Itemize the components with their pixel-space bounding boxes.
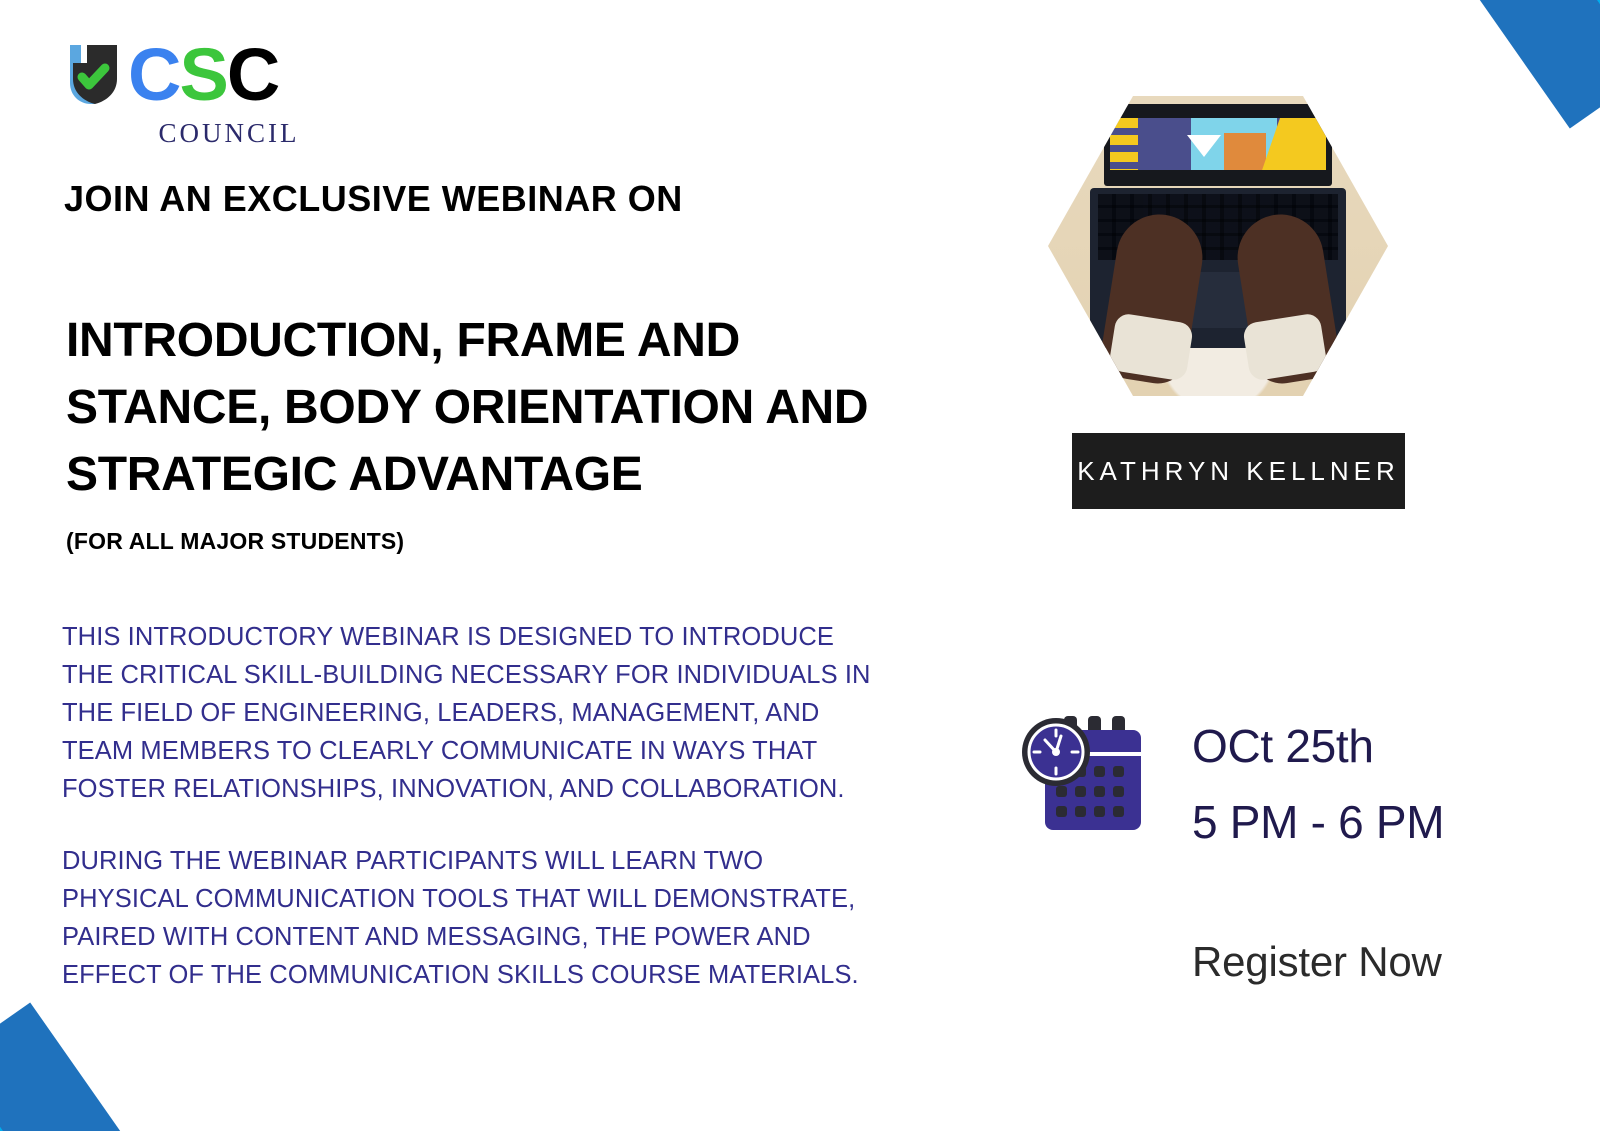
- laptop-screen: [1110, 118, 1326, 170]
- page-title: INTRODUCTION, FRAME AND STANCE, BODY ORI…: [66, 307, 966, 508]
- slide-building: [1224, 133, 1265, 170]
- sleeve-cuff-right: [1242, 312, 1328, 381]
- decor-band-dark: [0, 1002, 300, 1131]
- schedule-text: OCt 25th 5 PM - 6 PM: [1192, 708, 1444, 860]
- shield-check-icon: [62, 39, 124, 111]
- logo-wordmark: CSC: [128, 39, 278, 111]
- description-text: THIS INTRODUCTORY WEBINAR IS DESIGNED TO…: [62, 618, 992, 994]
- speaker-name: KATHRYN KELLNER: [1077, 456, 1400, 487]
- description-line: DURING THE WEBINAR PARTICIPANTS WILL LEA…: [62, 842, 992, 880]
- decor-band-dark: [1300, 0, 1600, 129]
- description-line: TEAM MEMBERS TO CLEARLY COMMUNICATE IN W…: [62, 732, 992, 770]
- description-line: FOSTER RELATIONSHIPS, INNOVATION, AND CO…: [62, 770, 992, 808]
- logo-letter-s: S: [179, 33, 226, 116]
- slide-thumbnail-rail: [1110, 118, 1138, 170]
- logo-letter-c2: C: [227, 33, 278, 116]
- speaker-name-bar: KATHRYN KELLNER: [1072, 433, 1405, 509]
- event-time: 5 PM - 6 PM: [1192, 784, 1444, 860]
- decor-band-light: [0, 985, 226, 1131]
- logo-row: CSC: [62, 36, 402, 114]
- event-date: OCt 25th: [1192, 708, 1444, 784]
- description-paragraph-2: DURING THE WEBINAR PARTICIPANTS WILL LEA…: [62, 842, 992, 994]
- description-paragraph-1: THIS INTRODUCTORY WEBINAR IS DESIGNED TO…: [62, 618, 992, 808]
- calendar-clock-icon: [1012, 708, 1162, 836]
- description-line: PHYSICAL COMMUNICATION TOOLS THAT WILL D…: [62, 880, 992, 918]
- sleeve-cuff-left: [1108, 312, 1194, 381]
- title-line: STANCE, BODY ORIENTATION AND: [66, 374, 966, 441]
- speaker-photo: [1048, 96, 1388, 396]
- presentation-slide: [1138, 118, 1326, 170]
- description-line: PAIRED WITH CONTENT AND MESSAGING, THE P…: [62, 918, 992, 956]
- brand-logo: CSC COUNCIL: [62, 36, 402, 149]
- schedule-block: OCt 25th 5 PM - 6 PM: [1012, 708, 1444, 860]
- register-now-cta[interactable]: Register Now: [1192, 938, 1442, 986]
- description-line: THE FIELD OF ENGINEERING, LEADERS, MANAG…: [62, 694, 992, 732]
- description-line: EFFECT OF THE COMMUNICATION SKILLS COURS…: [62, 956, 992, 994]
- audience-note: (FOR ALL MAJOR STUDENTS): [66, 528, 404, 555]
- kicker-text: JOIN AN EXCLUSIVE WEBINAR ON: [64, 178, 683, 220]
- logo-letter-c1: C: [128, 33, 179, 116]
- logo-subtitle: COUNCIL: [104, 118, 354, 149]
- slide-triangle: [1187, 135, 1221, 157]
- title-line: STRATEGIC ADVANTAGE: [66, 441, 966, 508]
- decor-band-light: [1374, 0, 1600, 146]
- description-line: THE CRITICAL SKILL-BUILDING NECESSARY FO…: [62, 656, 992, 694]
- title-line: INTRODUCTION, FRAME AND: [66, 307, 966, 374]
- description-line: THIS INTRODUCTORY WEBINAR IS DESIGNED TO…: [62, 618, 992, 656]
